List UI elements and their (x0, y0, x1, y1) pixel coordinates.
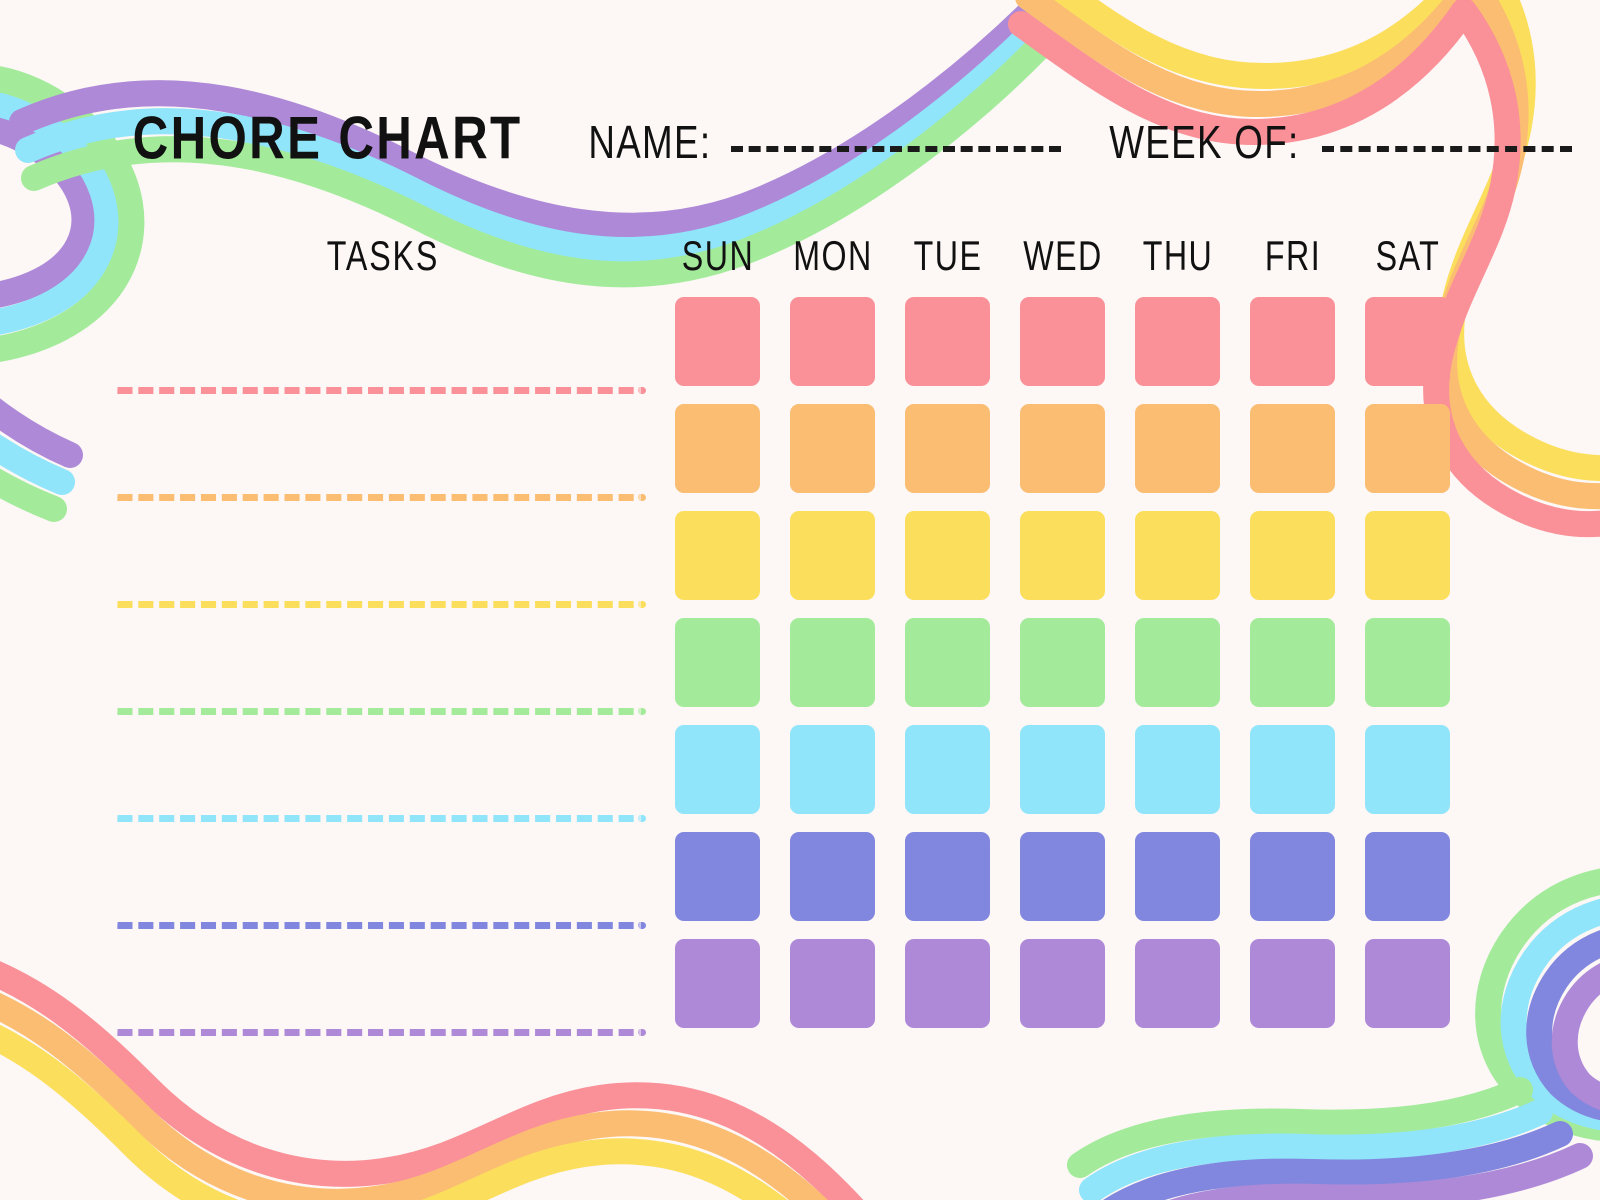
chore-cell-row5-tue[interactable] (905, 725, 990, 814)
task-input-row-7[interactable] (115, 1029, 646, 1036)
chore-cell-row7-wed[interactable] (1020, 939, 1105, 1028)
chore-cell-row2-fri[interactable] (1250, 404, 1335, 493)
chore-grid (0, 0, 1600, 1200)
chore-cell-row5-wed[interactable] (1020, 725, 1105, 814)
chore-cell-row1-sun[interactable] (675, 297, 760, 386)
task-input-row-4[interactable] (115, 708, 646, 715)
chore-cell-row2-wed[interactable] (1020, 404, 1105, 493)
chore-cell-row4-tue[interactable] (905, 618, 990, 707)
chore-cell-row5-mon[interactable] (790, 725, 875, 814)
chore-cell-row6-tue[interactable] (905, 832, 990, 921)
chore-cell-row7-mon[interactable] (790, 939, 875, 1028)
chore-cell-row3-tue[interactable] (905, 511, 990, 600)
chore-cell-row2-sun[interactable] (675, 404, 760, 493)
task-input-row-3[interactable] (115, 601, 646, 608)
chore-cell-row4-sun[interactable] (675, 618, 760, 707)
chore-cell-row7-sun[interactable] (675, 939, 760, 1028)
chore-cell-row3-sun[interactable] (675, 511, 760, 600)
chore-chart-page: CHORE CHART NAME: WEEK OF: TASKS SUN MON… (0, 0, 1600, 1200)
chore-cell-row6-sat[interactable] (1365, 832, 1450, 921)
task-input-row-2[interactable] (115, 494, 646, 501)
chore-cell-row6-sun[interactable] (675, 832, 760, 921)
chore-cell-row3-thu[interactable] (1135, 511, 1220, 600)
chore-cell-row7-thu[interactable] (1135, 939, 1220, 1028)
chore-cell-row2-thu[interactable] (1135, 404, 1220, 493)
chore-cell-row3-fri[interactable] (1250, 511, 1335, 600)
chore-cell-row2-sat[interactable] (1365, 404, 1450, 493)
chore-cell-row1-tue[interactable] (905, 297, 990, 386)
chore-cell-row4-mon[interactable] (790, 618, 875, 707)
chore-cell-row5-sat[interactable] (1365, 725, 1450, 814)
chore-cell-row1-mon[interactable] (790, 297, 875, 386)
chore-cell-row3-sat[interactable] (1365, 511, 1450, 600)
chore-cell-row4-sat[interactable] (1365, 618, 1450, 707)
chore-cell-row7-sat[interactable] (1365, 939, 1450, 1028)
chore-cell-row2-mon[interactable] (790, 404, 875, 493)
task-input-row-1[interactable] (115, 387, 646, 394)
chore-cell-row5-thu[interactable] (1135, 725, 1220, 814)
chore-cell-row1-wed[interactable] (1020, 297, 1105, 386)
chore-cell-row3-wed[interactable] (1020, 511, 1105, 600)
chore-cell-row3-mon[interactable] (790, 511, 875, 600)
chore-cell-row1-fri[interactable] (1250, 297, 1335, 386)
task-input-row-5[interactable] (115, 815, 646, 822)
chore-cell-row7-fri[interactable] (1250, 939, 1335, 1028)
chore-cell-row4-thu[interactable] (1135, 618, 1220, 707)
chore-cell-row2-tue[interactable] (905, 404, 990, 493)
task-input-row-6[interactable] (115, 922, 646, 929)
chore-cell-row4-wed[interactable] (1020, 618, 1105, 707)
chore-cell-row4-fri[interactable] (1250, 618, 1335, 707)
chore-cell-row6-fri[interactable] (1250, 832, 1335, 921)
chore-cell-row7-tue[interactable] (905, 939, 990, 1028)
chore-cell-row6-mon[interactable] (790, 832, 875, 921)
chore-cell-row6-wed[interactable] (1020, 832, 1105, 921)
chore-cell-row1-thu[interactable] (1135, 297, 1220, 386)
chore-cell-row6-thu[interactable] (1135, 832, 1220, 921)
chore-cell-row5-sun[interactable] (675, 725, 760, 814)
chore-cell-row1-sat[interactable] (1365, 297, 1450, 386)
chore-cell-row5-fri[interactable] (1250, 725, 1335, 814)
